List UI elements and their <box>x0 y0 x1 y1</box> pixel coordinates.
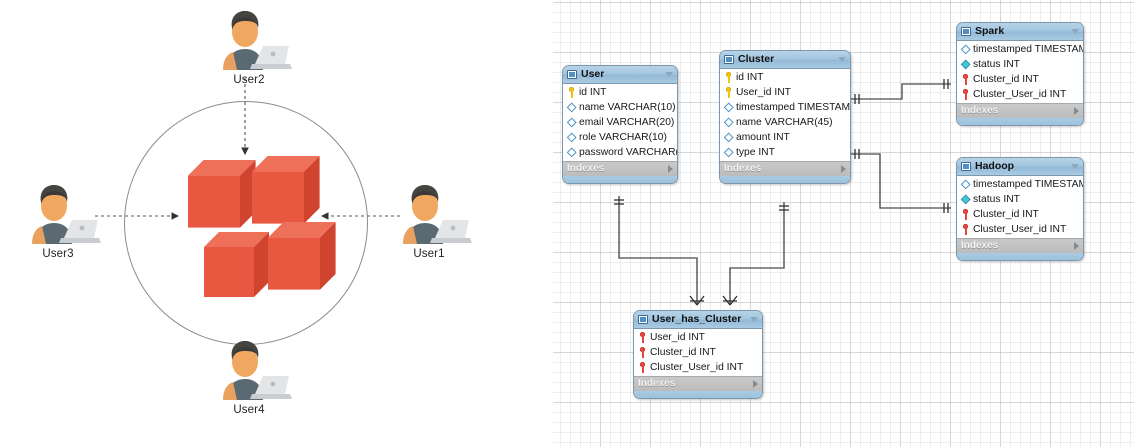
er-column-list: User_id INTCluster_id INTCluster_User_id… <box>634 329 762 376</box>
screenshot-root: User2User3User1User4 <box>0 0 1134 447</box>
foreign-key-icon <box>961 74 970 85</box>
chevron-right-icon[interactable] <box>668 165 673 173</box>
column-icon <box>567 147 576 158</box>
user-node-user4[interactable]: User4 <box>203 338 295 416</box>
er-table-name: Cluster <box>738 51 834 68</box>
er-column-label: name VARCHAR(45) <box>736 115 833 130</box>
er-table-hadoop[interactable]: Hadooptimestamped TIMESTAMP(30)status IN… <box>956 157 1084 261</box>
user-avatar-icon <box>383 182 475 246</box>
primary-key-icon <box>567 87 576 98</box>
foreign-key-icon <box>638 347 647 358</box>
user-avatar-icon <box>12 182 104 246</box>
er-indexes-section[interactable]: Indexes <box>563 161 677 176</box>
column-icon <box>961 59 970 70</box>
er-table-footer-strip <box>563 176 677 183</box>
er-column-label: name VARCHAR(10) <box>579 100 676 115</box>
cluster-concept-diagram: User2User3User1User4 <box>0 0 530 447</box>
er-table-name: Hadoop <box>975 158 1067 175</box>
er-column-row[interactable]: type INT <box>720 145 850 160</box>
er-column-label: Cluster_id INT <box>650 345 716 360</box>
primary-key-icon <box>724 87 733 98</box>
data-cube <box>188 160 256 228</box>
er-column-row[interactable]: status INT <box>957 192 1083 207</box>
er-column-label: timestamped TIMESTAMP(30) <box>973 42 1084 57</box>
data-cube <box>252 156 320 224</box>
user-node-user3[interactable]: User3 <box>12 182 104 260</box>
er-indexes-label: Indexes <box>724 162 841 176</box>
foreign-key-icon <box>961 209 970 220</box>
er-column-row[interactable]: Cluster_User_id INT <box>957 87 1083 102</box>
chevron-right-icon[interactable] <box>753 380 758 388</box>
er-indexes-section[interactable]: Indexes <box>720 161 850 176</box>
primary-key-icon <box>724 72 733 83</box>
chevron-right-icon[interactable] <box>841 165 846 173</box>
er-column-label: role VARCHAR(10) <box>579 130 667 145</box>
data-cube <box>268 222 336 290</box>
er-column-label: User_id INT <box>650 330 705 345</box>
column-icon <box>567 132 576 143</box>
er-column-row[interactable]: id INT <box>720 70 850 85</box>
er-indexes-label: Indexes <box>567 162 668 176</box>
column-icon <box>724 102 733 113</box>
er-table-name: User <box>581 66 661 83</box>
column-icon <box>567 102 576 113</box>
column-icon <box>567 117 576 128</box>
er-indexes-label: Indexes <box>638 377 753 391</box>
er-column-label: id INT <box>579 85 606 100</box>
er-column-row[interactable]: role VARCHAR(10) <box>563 130 677 145</box>
er-column-row[interactable]: Cluster_id INT <box>957 207 1083 222</box>
table-icon <box>961 27 971 36</box>
er-table-spark[interactable]: Sparktimestamped TIMESTAMP(30)status INT… <box>956 22 1084 126</box>
er-column-label: Cluster_id INT <box>973 207 1039 222</box>
er-column-row[interactable]: id INT <box>563 85 677 100</box>
er-table-footer-strip <box>957 253 1083 260</box>
er-column-label: timestamped TIMESTAMP(... <box>736 100 851 115</box>
er-table-user_has_cluster[interactable]: User_has_ClusterUser_id INTCluster_id IN… <box>633 310 763 399</box>
er-column-label: Cluster_User_id INT <box>973 87 1066 102</box>
er-indexes-section[interactable]: Indexes <box>634 376 762 391</box>
chevron-down-icon[interactable] <box>838 57 846 62</box>
er-column-row[interactable]: Cluster_User_id INT <box>634 360 762 375</box>
er-column-label: status INT <box>973 57 1020 72</box>
er-table-cluster[interactable]: Clusterid INTUser_id INTtimestamped TIME… <box>719 50 851 184</box>
table-icon <box>638 315 648 324</box>
er-column-label: password VARCHAR(45) <box>579 145 678 160</box>
er-diagram-canvas[interactable]: Userid INTname VARCHAR(10)email VARCHAR(… <box>553 0 1134 447</box>
er-table-footer-strip <box>957 118 1083 125</box>
chevron-down-icon[interactable] <box>1071 164 1079 169</box>
er-column-label: status INT <box>973 192 1020 207</box>
er-column-row[interactable]: Cluster_id INT <box>957 72 1083 87</box>
er-column-row[interactable]: status INT <box>957 57 1083 72</box>
foreign-key-icon <box>638 362 647 373</box>
er-column-list: timestamped TIMESTAMP(30)status INTClust… <box>957 41 1083 103</box>
table-icon <box>724 55 734 64</box>
table-icon <box>567 70 577 79</box>
er-table-footer-strip <box>634 391 762 398</box>
er-column-row[interactable]: timestamped TIMESTAMP(... <box>720 100 850 115</box>
user-avatar-icon <box>203 338 295 402</box>
er-column-label: type INT <box>736 145 775 160</box>
user-node-user2[interactable]: User2 <box>203 8 295 86</box>
er-column-label: Cluster_id INT <box>973 72 1039 87</box>
foreign-key-icon <box>638 332 647 343</box>
er-table-header[interactable]: Hadoop <box>957 158 1083 176</box>
er-table-user[interactable]: Userid INTname VARCHAR(10)email VARCHAR(… <box>562 65 678 184</box>
er-column-row[interactable]: amount INT <box>720 130 850 145</box>
chevron-down-icon[interactable] <box>750 317 758 322</box>
er-column-label: timestamped TIMESTAMP(30) <box>973 177 1084 192</box>
er-column-list: id INTname VARCHAR(10)email VARCHAR(20)r… <box>563 84 677 161</box>
table-icon <box>961 162 971 171</box>
er-table-header[interactable]: Cluster <box>720 51 850 69</box>
er-table-header[interactable]: User <box>563 66 677 84</box>
er-table-footer-strip <box>720 176 850 183</box>
chevron-right-icon[interactable] <box>1074 242 1079 250</box>
er-column-label: amount INT <box>736 130 790 145</box>
user-node-label: User2 <box>203 74 295 86</box>
er-column-row[interactable]: timestamped TIMESTAMP(30) <box>957 42 1083 57</box>
er-column-label: email VARCHAR(20) <box>579 115 674 130</box>
user-node-user1[interactable]: User1 <box>383 182 475 260</box>
user-node-label: User4 <box>203 404 295 416</box>
er-column-list: timestamped TIMESTAMP(30)status INTClust… <box>957 176 1083 238</box>
er-column-label: User_id INT <box>736 85 791 100</box>
column-icon <box>961 194 970 205</box>
foreign-key-icon <box>961 224 970 235</box>
data-cube <box>204 232 269 297</box>
chevron-down-icon[interactable] <box>665 72 673 77</box>
er-indexes-section[interactable]: Indexes <box>957 103 1083 118</box>
er-column-row[interactable]: name VARCHAR(10) <box>563 100 677 115</box>
er-table-name: User_has_Cluster <box>652 311 746 328</box>
column-icon <box>724 132 733 143</box>
er-column-row[interactable]: name VARCHAR(45) <box>720 115 850 130</box>
er-column-row[interactable]: email VARCHAR(20) <box>563 115 677 130</box>
er-column-row[interactable]: password VARCHAR(45) <box>563 145 677 160</box>
chevron-down-icon[interactable] <box>1071 29 1079 34</box>
er-indexes-label: Indexes <box>961 239 1074 253</box>
er-column-row[interactable]: Cluster_id INT <box>634 345 762 360</box>
column-icon <box>724 147 733 158</box>
column-icon <box>961 44 970 55</box>
foreign-key-icon <box>961 89 970 100</box>
user-node-label: User1 <box>383 248 475 260</box>
er-column-row[interactable]: timestamped TIMESTAMP(30) <box>957 177 1083 192</box>
er-column-label: Cluster_User_id INT <box>650 360 743 375</box>
user-avatar-icon <box>203 8 295 72</box>
er-table-header[interactable]: User_has_Cluster <box>634 311 762 329</box>
er-column-row[interactable]: User_id INT <box>634 330 762 345</box>
er-table-name: Spark <box>975 23 1067 40</box>
er-indexes-label: Indexes <box>961 104 1074 118</box>
er-table-header[interactable]: Spark <box>957 23 1083 41</box>
user-node-label: User3 <box>12 248 104 260</box>
er-column-row[interactable]: Cluster_User_id INT <box>957 222 1083 237</box>
er-column-label: Cluster_User_id INT <box>973 222 1066 237</box>
er-indexes-section[interactable]: Indexes <box>957 238 1083 253</box>
column-icon <box>724 117 733 128</box>
er-column-row[interactable]: User_id INT <box>720 85 850 100</box>
er-column-list: id INTUser_id INTtimestamped TIMESTAMP(.… <box>720 69 850 161</box>
er-column-label: id INT <box>736 70 763 85</box>
chevron-right-icon[interactable] <box>1074 107 1079 115</box>
column-icon <box>961 179 970 190</box>
